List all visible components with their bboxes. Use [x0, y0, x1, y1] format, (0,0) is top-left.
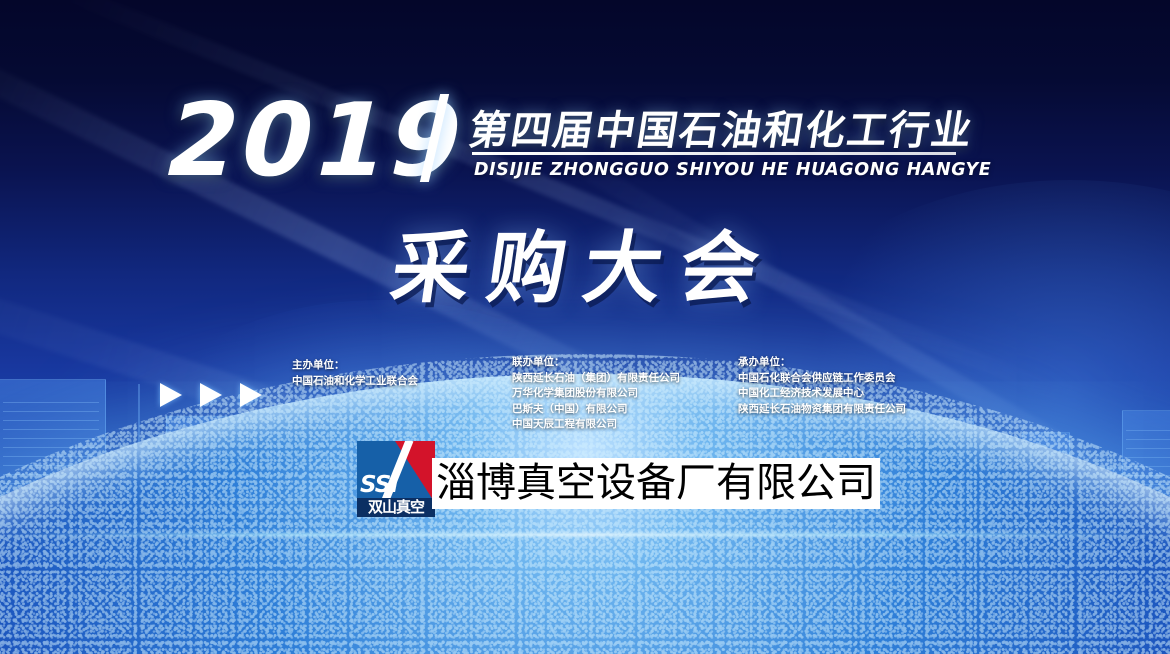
- organizers-block: 主办单位： 中国石油和化学工业联合会 联办单位： 陕西延长石油（集团）有限责任公…: [0, 355, 1170, 430]
- organizer-entry: 中国天辰工程有限公司: [512, 418, 617, 430]
- light-ray: [53, 0, 1080, 409]
- organizer-entry: 中国化工经济技术发展中心: [738, 386, 906, 401]
- title-underline: [472, 152, 956, 155]
- organizer-group-organizer: 承办单位： 中国石化联合会供应链工作委员会 中国化工经济技术发展中心 陕西延长石…: [738, 355, 906, 416]
- organizer-label: 承办单位：: [738, 355, 906, 370]
- poster-canvas: 2019 第四届中国石油和化工行业 DISIJIE ZHONGGUO SHIYO…: [0, 0, 1170, 654]
- company-name-banner: 淄博真空设备厂有限公司: [432, 458, 880, 509]
- organizer-entry: 中国石化联合会供应链工作委员会: [738, 371, 906, 386]
- logo-latin-text: SSI: [360, 472, 398, 498]
- event-subject-cn: 采购大会: [0, 206, 1170, 318]
- organizer-label: 主办单位：: [292, 358, 418, 373]
- organizer-entry: 巴斯夫（中国）有限公司: [512, 402, 680, 417]
- organizer-entry: 陕西延长石油（集团）有限责任公司: [512, 371, 680, 386]
- organizer-label: 联办单位：: [512, 355, 680, 370]
- headline-block: 2019 第四届中国石油和化工行业 DISIJIE ZHONGGUO SHIYO…: [0, 96, 1170, 192]
- horizon-glow: [0, 533, 1170, 536]
- organizer-group-host: 主办单位： 中国石油和化学工业联合会: [292, 358, 418, 388]
- organizer-entry: 万华化学集团股份有限公司: [512, 386, 680, 401]
- event-title-cn: 第四届中国石油和化工行业: [465, 98, 978, 156]
- ssi-company-logo: SSI 双山真空: [357, 441, 435, 517]
- organizer-group-co-host: 联办单位： 陕西延长石油（集团）有限责任公司 万华化学集团股份有限公司 巴斯夫（…: [512, 355, 680, 432]
- event-title-pinyin: DISIJIE ZHONGGUO SHIYOU HE HUAGONG HANGY…: [474, 160, 991, 180]
- organizer-entry: 陕西延长石油物资集团有限责任公司: [738, 403, 906, 415]
- logo-cn-text: 双山真空: [357, 498, 435, 517]
- organizer-entry: 中国石油和化学工业联合会: [292, 375, 418, 387]
